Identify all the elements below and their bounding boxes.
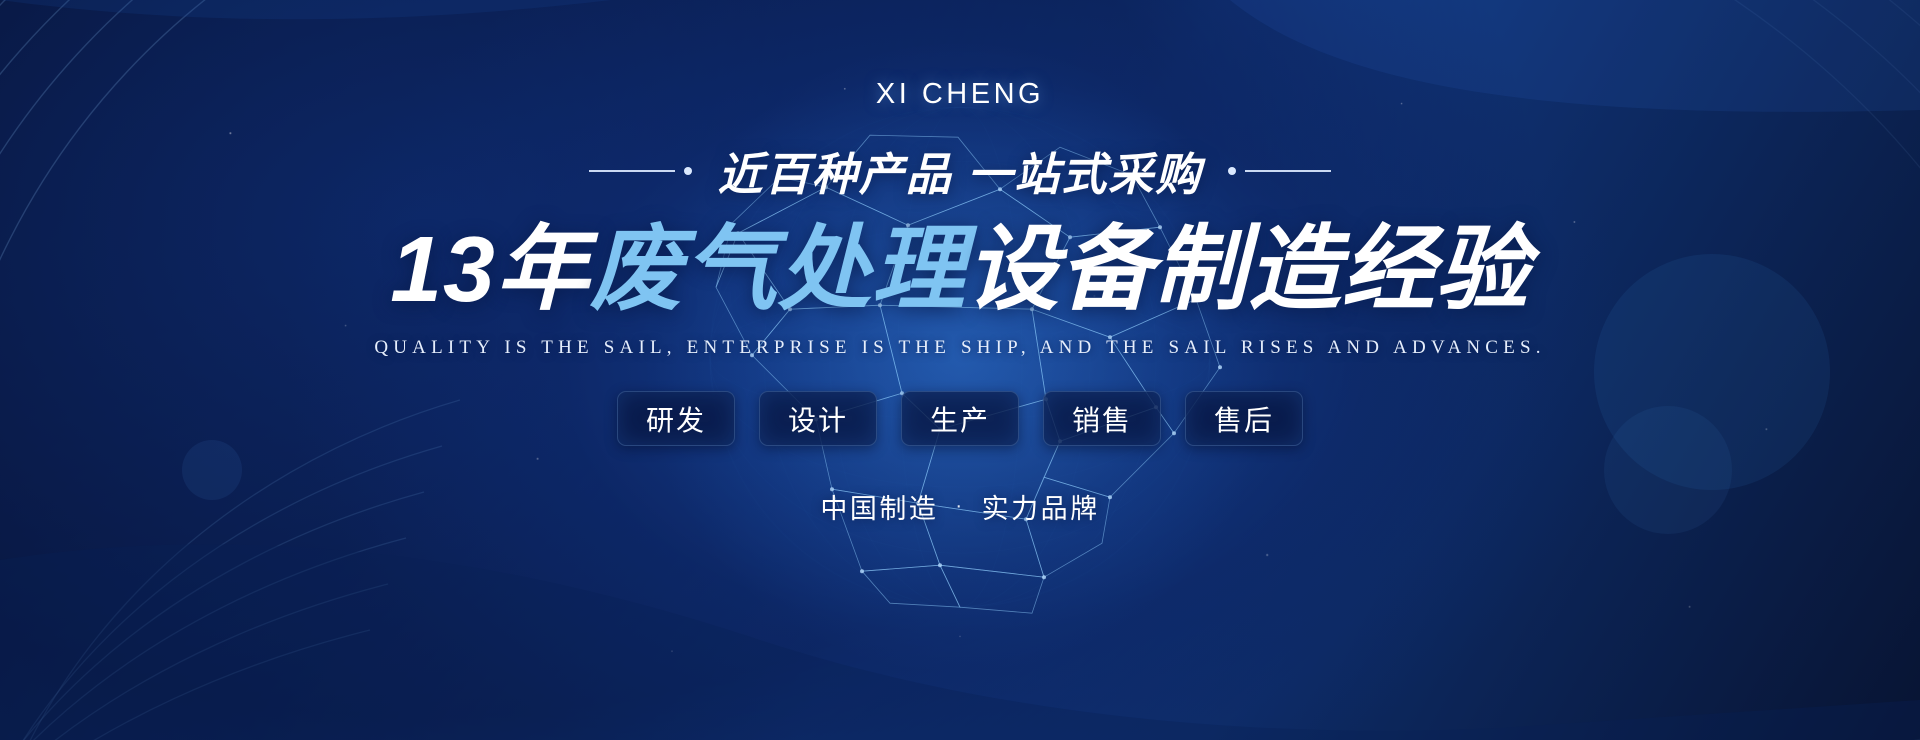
banner-content: XI CHENG 近百种产品 一站式采购 13年废气处理设备制造经验 QUALI… — [0, 0, 1920, 740]
tagline-english: QUALITY IS THE SAIL, ENTERPRISE IS THE S… — [374, 337, 1545, 359]
service-pill-design[interactable]: 设计 — [759, 391, 877, 446]
footer-tagline-left: 中国制造 — [820, 487, 938, 526]
brand-name-en: XI CHENG — [876, 78, 1044, 111]
hero-banner: XI CHENG 近百种产品 一站式采购 13年废气处理设备制造经验 QUALI… — [0, 0, 1920, 740]
subtitle-text: 近百种产品 一站式采购 — [718, 138, 1203, 203]
footer-tagline: 中国制造 · 实力品牌 — [820, 487, 1099, 526]
headline-part-1: 13年 — [390, 217, 589, 321]
service-pill-after-sales[interactable]: 售后 — [1185, 391, 1303, 446]
subtitle-row: 近百种产品 一站式采购 — [589, 138, 1332, 203]
footer-tagline-right: 实力品牌 — [982, 487, 1100, 526]
service-pill-list: 研发 设计 生产 销售 售后 — [617, 391, 1303, 446]
decorative-line-left — [589, 167, 692, 175]
service-pill-sales[interactable]: 销售 — [1043, 391, 1161, 446]
footer-separator-dot: · — [955, 495, 964, 518]
decorative-line-right — [1228, 167, 1331, 175]
service-pill-production[interactable]: 生产 — [901, 391, 1019, 446]
service-pill-rd[interactable]: 研发 — [617, 391, 735, 446]
headline-part-2: 设备制造经验 — [966, 217, 1530, 321]
headline-highlight: 废气处理 — [590, 217, 966, 321]
headline: 13年废气处理设备制造经验 — [390, 217, 1529, 321]
